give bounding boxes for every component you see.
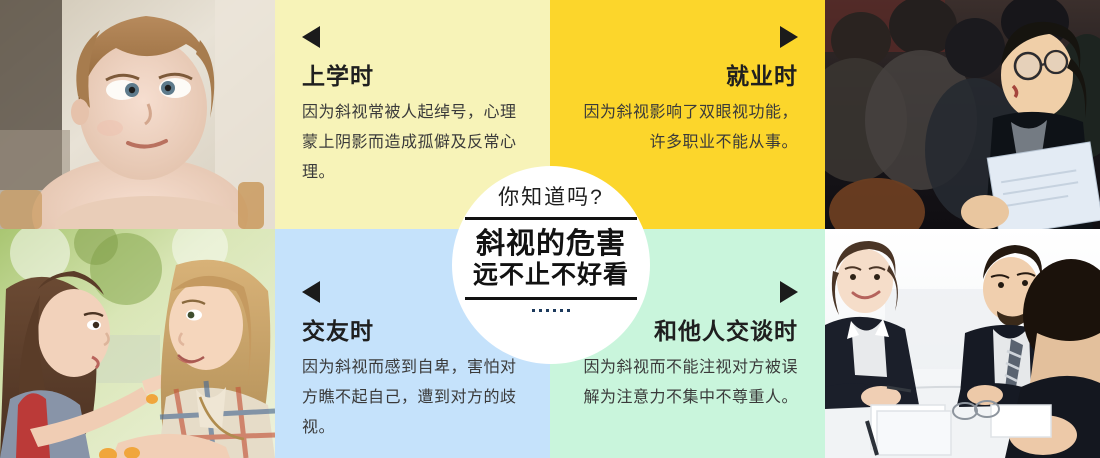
- badge-headline: 斜视的危害 远不止不好看: [473, 220, 629, 297]
- badge-headline-line1: 斜视的危害: [473, 227, 629, 261]
- photo-career-fair: [825, 0, 1100, 229]
- badge-dot: [560, 309, 563, 312]
- panel-school-title: 上学时: [302, 62, 523, 91]
- badge-dot: [532, 309, 535, 312]
- badge-kicker: 你知道吗?: [498, 186, 604, 209]
- strabismus-harm-infographic: 上学时 因为斜视常被人起绰号，心理蒙上阴影而造成孤僻及反常心理。 就业时 因为斜…: [0, 0, 1100, 458]
- panel-friends-body: 因为斜视而感到自卑，害怕对方瞧不起自己，遭到对方的歧视。: [302, 353, 523, 443]
- badge-dots: [532, 309, 570, 312]
- badge-headline-line2: 远不止不好看: [473, 261, 629, 291]
- badge-dot: [546, 309, 549, 312]
- photo-business-meeting: [825, 229, 1100, 458]
- badge-rule-bottom: [465, 297, 637, 300]
- badge-dot: [539, 309, 542, 312]
- panel-talking-body: 因为斜视而不能注视对方被误解为注意力不集中不尊重人。: [577, 353, 798, 413]
- panel-career-title: 就业时: [577, 62, 798, 91]
- triangle-left-icon: [302, 26, 320, 48]
- panel-career-body: 因为斜视影响了双眼视功能，许多职业不能从事。: [577, 98, 798, 158]
- badge-dot: [553, 309, 556, 312]
- panel-school-body: 因为斜视常被人起绰号，心理蒙上阴影而造成孤僻及反常心理。: [302, 98, 523, 188]
- photo-child: [0, 0, 275, 229]
- triangle-right-icon: [780, 281, 798, 303]
- photo-two-friends: [0, 229, 275, 458]
- triangle-right-icon: [780, 26, 798, 48]
- center-badge: 你知道吗? 斜视的危害 远不止不好看: [452, 166, 650, 364]
- triangle-left-icon: [302, 281, 320, 303]
- badge-dot: [567, 309, 570, 312]
